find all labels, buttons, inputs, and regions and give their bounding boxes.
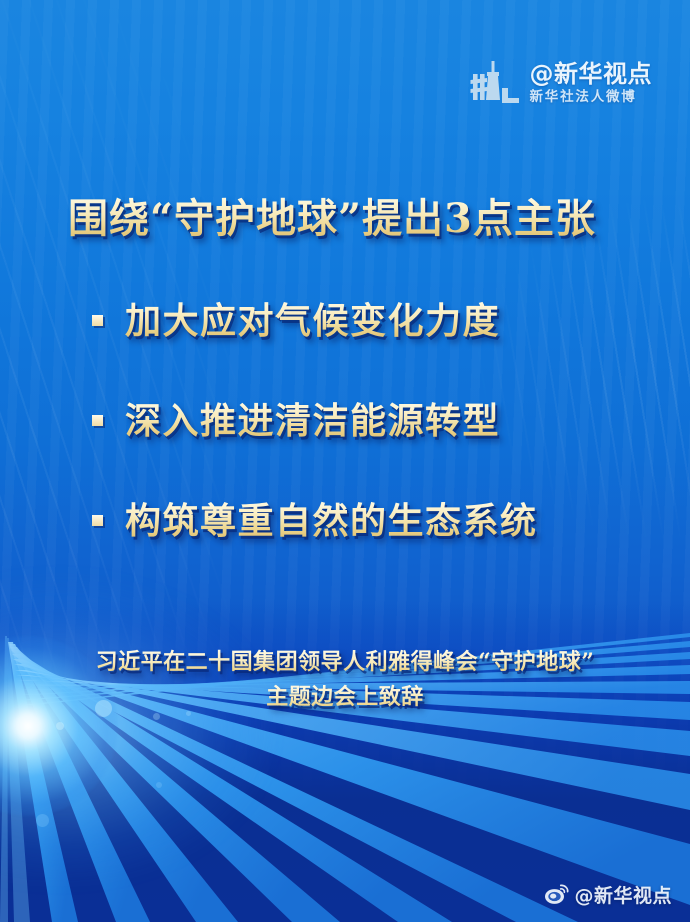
bullet-square-icon — [92, 415, 103, 426]
bullet-square-icon — [92, 315, 103, 326]
bullet-list: 加大应对气候变化力度 深入推进清洁能源转型 构筑尊重自然的生态系统 — [92, 292, 538, 544]
xinhua-header-logo[interactable]: @新华视点 新华社法人微博 — [469, 58, 653, 108]
page-title: 围绕“守护地球”提出3点主张 — [68, 186, 596, 244]
logo-account-name: @新华视点 — [530, 62, 653, 86]
bokeh-dot — [36, 814, 49, 827]
weibo-watermark[interactable]: @新华视点 — [544, 881, 672, 908]
list-item-label: 加大应对气候变化力度 — [125, 292, 500, 344]
background-glow-halo — [0, 580, 270, 880]
logo-text-group: @新华视点 新华社法人微博 — [530, 62, 653, 105]
logo-subtitle: 新华社法人微博 — [530, 91, 653, 105]
watermark-account-name: @新华视点 — [574, 881, 672, 908]
weibo-icon — [544, 884, 569, 905]
list-item-label: 构筑尊重自然的生态系统 — [125, 492, 538, 544]
xinhua-tower-logo-icon — [469, 58, 521, 108]
list-item: 构筑尊重自然的生态系统 — [92, 492, 538, 544]
caption-line-1: 习近平在二十国集团领导人利雅得峰会“守护地球” — [0, 645, 690, 680]
caption-line-2: 主题边会上致辞 — [0, 680, 690, 715]
caption-block: 习近平在二十国集团领导人利雅得峰会“守护地球” 主题边会上致辞 — [0, 645, 690, 715]
bullet-square-icon — [92, 515, 103, 526]
bokeh-dot — [56, 722, 64, 730]
list-item-label: 深入推进清洁能源转型 — [125, 392, 500, 444]
list-item: 加大应对气候变化力度 — [92, 292, 538, 344]
bokeh-dot — [156, 782, 162, 788]
poster-canvas: @新华视点 新华社法人微博 围绕“守护地球”提出3点主张 加大应对气候变化力度 … — [0, 0, 690, 922]
list-item: 深入推进清洁能源转型 — [92, 392, 538, 444]
